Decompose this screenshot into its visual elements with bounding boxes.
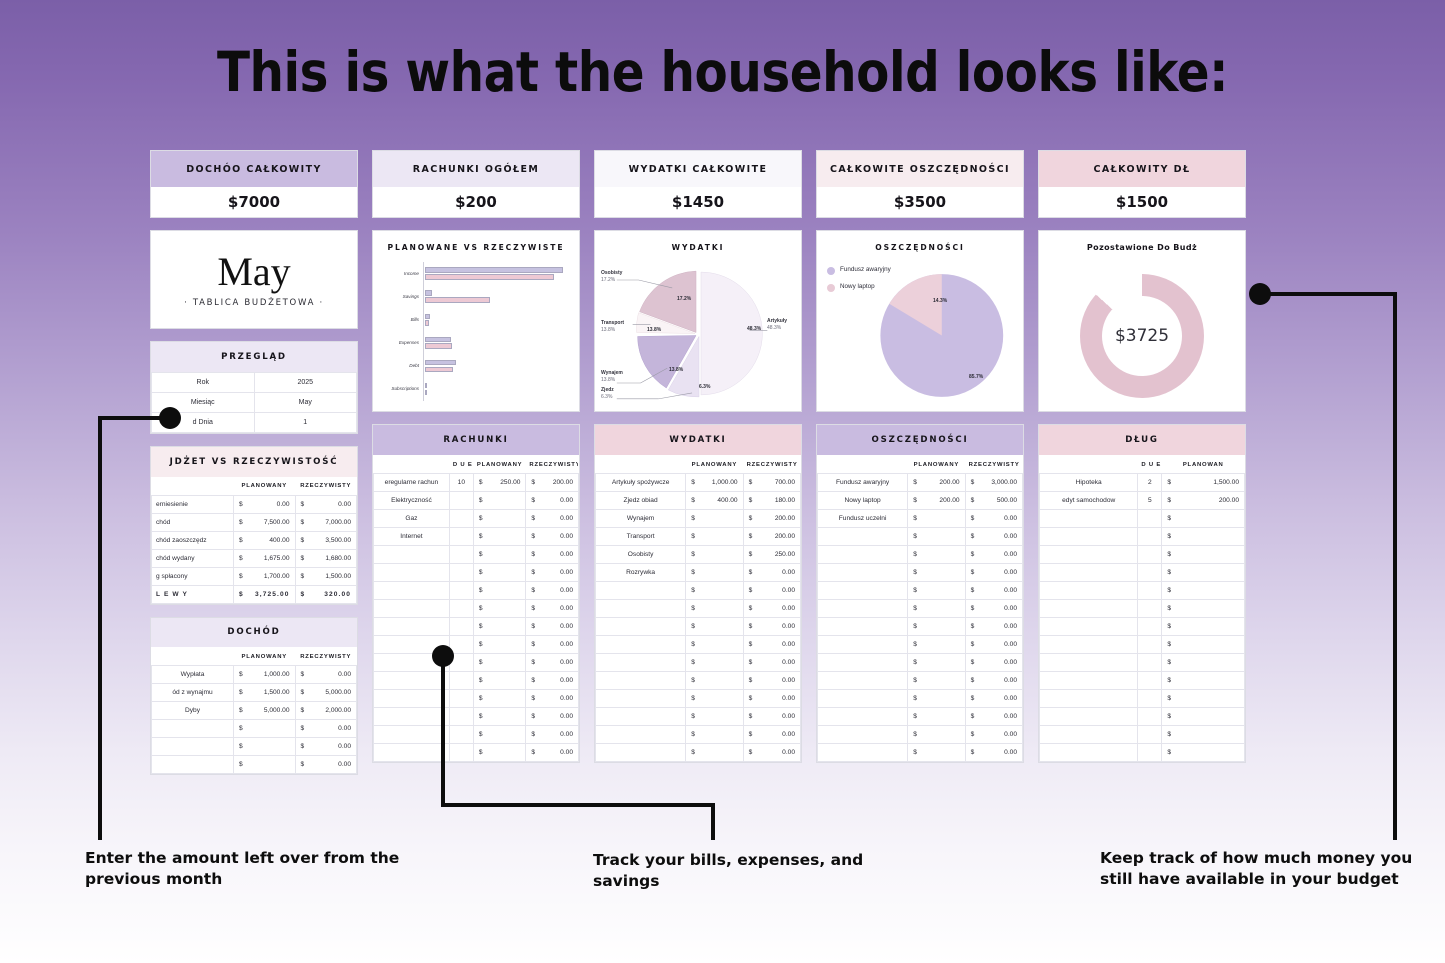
cell-planned[interactable]: $ [908,546,965,564]
cell-planned[interactable]: $ [908,618,965,636]
table-row[interactable]: $ $ 0.00 [374,636,579,654]
cell-planned[interactable]: $ [1162,690,1245,708]
row-label: Rozrywka [596,564,686,582]
cell-planned[interactable]: $ [908,510,965,528]
table-row[interactable]: $ $ 0.00 [818,636,1023,654]
cell-planned[interactable]: $ [1162,726,1245,744]
cell-planned[interactable]: $ [473,690,526,708]
cell-due[interactable] [1138,744,1162,762]
row-label: Elektryczność [374,492,450,510]
cell-actual[interactable]: $ 0.00 [295,756,357,774]
bar-category-label: Income [381,271,423,276]
cell-due[interactable] [1138,600,1162,618]
cell-planned[interactable]: $ [686,546,743,564]
cell-due[interactable] [1138,618,1162,636]
table-row[interactable]: $ $ 0.00 [152,738,357,756]
cell-actual[interactable]: $ 0.00 [526,654,579,672]
cell-planned[interactable]: $ [473,528,526,546]
cell-planned[interactable]: $ [686,654,743,672]
cell-actual[interactable]: $ 0.00 [965,690,1022,708]
donut-center: $3725 [1102,296,1182,376]
cell-actual[interactable]: $ 0.00 [526,708,579,726]
table-row[interactable]: $ $ 0.00 [818,528,1023,546]
overview-row-value[interactable]: 1 [254,413,357,433]
table-row[interactable]: $ $ 0.00 [152,720,357,738]
expenses-body: Artykuły spożywcze$ 1,000.00$ 700.00Zjed… [596,474,801,762]
cell-actual[interactable]: $ 0.00 [295,666,357,684]
table-row[interactable]: chód zaoszczędz $ 400.00 $ 3,500.00 [152,531,357,549]
cell-planned[interactable]: $ [473,492,526,510]
cell-planned[interactable]: $ [686,690,743,708]
cell-actual[interactable]: $ 0.00 [526,600,579,618]
table-row[interactable]: $ $ 0.00 [818,708,1023,726]
cell-planned[interactable]: $ 7,500.00 [234,513,296,531]
cell-actual[interactable]: $ 3,000.00 [965,474,1022,492]
table-row[interactable]: $ $ 0.00 [818,654,1023,672]
cell-due[interactable] [449,510,473,528]
cell-due[interactable] [449,492,473,510]
cell-planned[interactable]: $ [234,756,296,774]
cell-actual[interactable]: $ 0.00 [965,546,1022,564]
cell-due[interactable] [449,744,473,762]
cell-actual[interactable]: $ 1,680.00 [295,549,357,567]
cell-actual[interactable]: $ 200.00 [526,474,579,492]
row-label: Nowy laptop [818,492,908,510]
table-row[interactable]: Miesiąc May [152,393,357,413]
cell-actual[interactable]: $ 0.00 [743,726,800,744]
table-row[interactable]: $ $ 0.00 [374,672,579,690]
cell-planned[interactable]: $ [686,582,743,600]
table-row[interactable]: $ $ 0.00 [374,690,579,708]
column-header-planned: PLANOWANY [473,456,526,474]
cell-due[interactable] [449,564,473,582]
cell-planned[interactable]: $ [1162,636,1245,654]
row-label [1040,708,1138,726]
table-row[interactable]: $ $ 0.00 [596,690,801,708]
cell-planned-total[interactable]: $ 3,725.00 [234,585,296,603]
cell-planned[interactable]: $ 400.00 [686,492,743,510]
column-header-due: D U E [449,456,473,474]
table-row[interactable]: $ $ 0.00 [374,726,579,744]
cell-due[interactable] [449,690,473,708]
cell-actual[interactable]: $ 0.00 [743,582,800,600]
cell-planned[interactable]: $ [473,708,526,726]
budget-vs-actual-body: erniesienie $ 0.00 $ 0.00 chód $ 7,500.0… [152,495,357,603]
cell-actual[interactable]: $ 0.00 [965,564,1022,582]
cell-due[interactable]: 10 [449,474,473,492]
cell-actual[interactable]: $ 0.00 [965,528,1022,546]
cell-planned[interactable]: $ 5,000.00 [234,702,296,720]
cell-actual[interactable]: $ 0.00 [526,510,579,528]
row-label [374,744,450,762]
cell-actual[interactable]: $ 1,500.00 [295,567,357,585]
cell-actual[interactable]: $ 200.00 [743,510,800,528]
table-row[interactable]: $ [1040,582,1245,600]
table-row[interactable]: $ $ 0.00 [596,600,801,618]
table-row[interactable]: Fundusz awaryjny$ 200.00$ 3,000.00 [818,474,1023,492]
cell-actual[interactable]: $ 0.00 [743,744,800,762]
table-row[interactable]: Nowy laptop$ 200.00$ 500.00 [818,492,1023,510]
row-label [1040,672,1138,690]
kpi-label: RACHUNKI OGÓŁEM [373,151,579,187]
table-row[interactable]: $ $ 0.00 [374,744,579,762]
cell-planned[interactable]: $ [908,672,965,690]
bar-category-label: Savings [381,294,423,299]
cell-actual[interactable]: $ 0.00 [965,510,1022,528]
cell-actual[interactable]: $ 200.00 [743,528,800,546]
cell-actual[interactable]: $ 0.00 [295,738,357,756]
cell-actual[interactable]: $ 0.00 [965,600,1022,618]
table-row[interactable]: $ $ 0.00 [596,708,801,726]
cell-planned[interactable]: $ [908,708,965,726]
table-row[interactable]: erniesienie $ 0.00 $ 0.00 [152,495,357,513]
table-row[interactable]: $ [1040,510,1245,528]
table-row[interactable]: Zjedz obiad$ 400.00$ 180.00 [596,492,801,510]
cell-planned[interactable]: $ [473,546,526,564]
table-row[interactable]: Osobisty$ $ 250.00 [596,546,801,564]
cell-due[interactable] [449,528,473,546]
cell-planned[interactable]: $ 200.00 [908,474,965,492]
cell-planned[interactable]: $ [686,618,743,636]
dashboard-column-summary: DOCHÓO CAŁKOWITY $7000 May · TABLICA BUD… [150,150,358,775]
cell-actual[interactable]: $ 0.00 [526,546,579,564]
cell-actual[interactable]: $ 5,000.00 [295,684,357,702]
overview-row-label: Miesiąc [152,393,255,413]
cell-actual[interactable]: $ 0.00 [743,654,800,672]
cell-planned[interactable]: $ [1162,546,1245,564]
table-row[interactable]: $ [1040,726,1245,744]
cell-planned[interactable]: $ [686,726,743,744]
cell-due[interactable] [449,672,473,690]
bar-actual [425,390,427,395]
table-row[interactable]: $ [1040,564,1245,582]
table-row[interactable]: Gaz$ $ 0.00 [374,510,579,528]
cell-planned[interactable]: $ [908,528,965,546]
table-row[interactable]: Rozrywka$ $ 0.00 [596,564,801,582]
cell-planned[interactable]: $ [686,672,743,690]
table-row[interactable]: $ [1040,708,1245,726]
row-label [596,672,686,690]
income-table-card: DOCHÓD PLANOWANY RZECZYWISTY Wypłata $ 1… [150,617,358,775]
cell-planned[interactable]: $ [686,636,743,654]
cell-actual[interactable]: $ 0.00 [526,726,579,744]
cell-planned[interactable]: $ [473,726,526,744]
page-title: This is what the household looks like: [87,40,1359,104]
table-row[interactable]: Elektryczność$ $ 0.00 [374,492,579,510]
table-row[interactable]: d Dnia 1 [152,413,357,433]
cell-actual[interactable]: $ 0.00 [295,495,357,513]
row-label [374,726,450,744]
cell-planned[interactable]: $ [1162,654,1245,672]
row-label: chód [152,513,234,531]
table-row[interactable]: edyt samochodow5$ 200.00 [1040,492,1245,510]
row-label [1040,528,1138,546]
cell-actual[interactable]: $ 0.00 [526,492,579,510]
row-label [818,726,908,744]
cell-planned[interactable]: $ [473,600,526,618]
table-row[interactable]: $ $ 0.00 [374,564,579,582]
cell-due[interactable] [449,600,473,618]
cell-planned[interactable]: $ [686,600,743,618]
cell-planned[interactable]: $ [234,720,296,738]
column-header-actual: RZECZYWISTY [295,648,357,666]
cell-planned[interactable]: $ [686,564,743,582]
cell-actual[interactable]: $ 0.00 [526,744,579,762]
cell-planned[interactable]: $ [1162,708,1245,726]
cell-planned[interactable]: $ [473,618,526,636]
cell-planned[interactable]: $ 1,500.00 [234,684,296,702]
table-row[interactable]: $ [1040,654,1245,672]
cell-actual[interactable]: $ 0.00 [526,528,579,546]
cell-actual[interactable]: $ 0.00 [743,708,800,726]
table-row[interactable]: $ $ 0.00 [818,618,1023,636]
row-label [818,582,908,600]
cell-due[interactable]: 2 [1138,474,1162,492]
cell-due[interactable] [1138,708,1162,726]
cell-due[interactable] [1138,726,1162,744]
cell-planned[interactable]: $ 1,000.00 [234,666,296,684]
cell-planned[interactable]: $ 1,500.00 [1162,474,1245,492]
table-row[interactable]: Rok 2025 [152,373,357,393]
table-row[interactable]: Artykuły spożywcze$ 1,000.00$ 700.00 [596,474,801,492]
cell-planned[interactable]: $ 200.00 [908,492,965,510]
cell-planned[interactable]: $ 250.00 [473,474,526,492]
cell-planned[interactable]: $ [473,672,526,690]
table-row[interactable]: $ $ 0.00 [818,546,1023,564]
table-row[interactable]: $ $ 0.00 [374,582,579,600]
row-label [374,690,450,708]
table-row[interactable]: $ $ 0.00 [374,546,579,564]
cell-planned[interactable]: $ [686,708,743,726]
cell-planned[interactable]: $ 400.00 [234,531,296,549]
cell-actual[interactable]: $ 0.00 [743,636,800,654]
cell-due[interactable] [1138,654,1162,672]
cell-planned[interactable]: $ [908,564,965,582]
cell-planned[interactable]: $ [1162,618,1245,636]
cell-actual[interactable]: $ 0.00 [295,720,357,738]
cell-planned[interactable]: $ [908,744,965,762]
cell-due[interactable] [1138,672,1162,690]
cell-actual[interactable]: $ 500.00 [965,492,1022,510]
cell-actual[interactable]: $ 0.00 [526,672,579,690]
cell-due[interactable] [1138,690,1162,708]
cell-planned[interactable]: $ 1,700.00 [234,567,296,585]
donut-chart: $3725 [1039,254,1245,411]
cell-planned[interactable]: $ 1,675.00 [234,549,296,567]
cell-actual[interactable]: $ 2,000.00 [295,702,357,720]
table-row[interactable]: $ [1040,618,1245,636]
cell-due[interactable] [1138,510,1162,528]
cell-actual[interactable]: $ 7,000.00 [295,513,357,531]
table-row[interactable]: $ [1040,546,1245,564]
table-row[interactable]: $ [1040,744,1245,762]
row-label: Fundusz uczelni [818,510,908,528]
pie-value-fundusz-awaryjny: 85.7% [969,374,983,380]
table-row[interactable]: chód wydany $ 1,675.00 $ 1,680.00 [152,549,357,567]
table-row[interactable]: $ $ 0.00 [818,600,1023,618]
cell-planned[interactable]: $ [908,600,965,618]
cell-planned[interactable]: $ [1162,600,1245,618]
table-row[interactable]: $ $ 0.00 [818,744,1023,762]
cell-actual[interactable]: $ 0.00 [965,672,1022,690]
cell-due[interactable] [1138,546,1162,564]
table-row[interactable]: $ $ 0.00 [596,582,801,600]
cell-actual[interactable]: $ 0.00 [743,690,800,708]
table-row-total[interactable]: L E W Y $ 3,725.00 $ 320.00 [152,585,357,603]
cell-planned[interactable]: $ [1162,744,1245,762]
pie-callout-zjedz: Zjedz 6.3% [601,387,614,400]
overview-row-value[interactable]: May [254,393,357,413]
table-row[interactable]: g spłacony $ 1,700.00 $ 1,500.00 [152,567,357,585]
cell-actual[interactable]: $ 0.00 [526,636,579,654]
cell-planned[interactable]: $ [473,510,526,528]
cell-planned[interactable]: $ [686,528,743,546]
row-label [596,708,686,726]
table-row[interactable]: $ $ 0.00 [596,672,801,690]
overview-row-value[interactable]: 2025 [254,373,357,393]
table-row[interactable]: $ $ 0.00 [374,708,579,726]
cell-planned[interactable]: $ [473,582,526,600]
table-row[interactable]: $ $ 0.00 [374,618,579,636]
cell-due[interactable] [449,546,473,564]
cell-planned[interactable]: $ [473,654,526,672]
cell-actual[interactable]: $ 700.00 [743,474,800,492]
table-row[interactable]: $ $ 0.00 [818,726,1023,744]
cell-planned[interactable]: $ [1162,510,1245,528]
column-header-planned: PLANOWAN [1162,456,1245,474]
cell-actual[interactable]: $ 0.00 [743,618,800,636]
cell-actual[interactable]: $ 0.00 [526,564,579,582]
cell-planned[interactable]: $ [908,654,965,672]
cell-planned[interactable]: $ [1162,528,1245,546]
table-row[interactable]: Fundusz uczelni$ $ 0.00 [818,510,1023,528]
budget-vs-actual-table: PLANOWANY RZECZYWISTY erniesienie $ 0.00… [151,477,357,604]
cell-due[interactable] [1138,528,1162,546]
table-row[interactable]: $ [1040,600,1245,618]
cell-planned[interactable]: $ [473,564,526,582]
table-row[interactable]: $ $ 0.00 [818,564,1023,582]
cell-actual[interactable]: $ 0.00 [965,582,1022,600]
debt-title: DŁUG [1039,425,1245,455]
table-row[interactable]: $ $ 0.00 [596,726,801,744]
cell-planned[interactable]: $ 0.00 [234,495,296,513]
cell-due[interactable] [1138,582,1162,600]
kpi-card-total-savings: CAŁKOWITE OSZCZĘDNOŚCI $3500 [816,150,1024,218]
cell-actual[interactable]: $ 0.00 [743,564,800,582]
table-row[interactable]: ód z wynajmu $ 1,500.00 $ 5,000.00 [152,684,357,702]
cell-planned[interactable]: $ [686,510,743,528]
cell-actual[interactable]: $ 250.00 [743,546,800,564]
cell-planned[interactable]: $ [1162,564,1245,582]
cell-actual[interactable]: $ 3,500.00 [295,531,357,549]
table-row[interactable]: Dyby $ 5,000.00 $ 2,000.00 [152,702,357,720]
table-row[interactable]: $ $ 0.00 [818,672,1023,690]
table-row[interactable]: $ $ 0.00 [152,756,357,774]
cell-actual[interactable]: $ 0.00 [965,654,1022,672]
cell-planned[interactable]: $ [908,690,965,708]
cell-planned[interactable]: $ [908,636,965,654]
cell-due[interactable] [449,582,473,600]
table-row[interactable]: Internet$ $ 0.00 [374,528,579,546]
cell-actual[interactable]: $ 180.00 [743,492,800,510]
cell-planned[interactable]: $ 1,000.00 [686,474,743,492]
cell-actual[interactable]: $ 0.00 [526,690,579,708]
bar-planned [425,314,430,319]
cell-actual[interactable]: $ 0.00 [743,672,800,690]
table-row[interactable]: $ [1040,528,1245,546]
table-row[interactable]: $ $ 0.00 [596,744,801,762]
table-row[interactable]: $ [1040,636,1245,654]
cell-planned[interactable]: $ [473,636,526,654]
table-row[interactable]: chód $ 7,500.00 $ 7,000.00 [152,513,357,531]
pie-value-artykuly: 48.3% [747,326,761,332]
cell-actual[interactable]: $ 0.00 [965,744,1022,762]
cell-due[interactable] [449,636,473,654]
cell-actual[interactable]: $ 0.00 [965,726,1022,744]
cell-due[interactable] [1138,564,1162,582]
cell-planned[interactable]: $ [1162,672,1245,690]
cell-planned[interactable]: $ [473,744,526,762]
cell-actual[interactable]: $ 0.00 [965,708,1022,726]
cell-due[interactable] [1138,636,1162,654]
table-row[interactable]: $ [1040,690,1245,708]
table-row[interactable]: $ $ 0.00 [818,582,1023,600]
pie-value-wynajem: 13.8% [669,367,683,373]
row-label: g spłacony [152,567,234,585]
table-row[interactable]: $ $ 0.00 [596,618,801,636]
table-row[interactable]: $ $ 0.00 [596,654,801,672]
chart-title: WYDATKI [595,231,801,254]
table-row[interactable]: $ $ 0.00 [818,690,1023,708]
table-row[interactable]: Transport$ $ 200.00 [596,528,801,546]
cell-actual[interactable]: $ 0.00 [526,618,579,636]
overview-row-label: Rok [152,373,255,393]
table-row[interactable]: Wypłata $ 1,000.00 $ 0.00 [152,666,357,684]
row-label [374,672,450,690]
cell-due[interactable] [449,618,473,636]
cell-actual[interactable]: $ 0.00 [965,618,1022,636]
cell-due[interactable]: 5 [1138,492,1162,510]
cell-actual-total[interactable]: $ 320.00 [295,585,357,603]
bar-actual [425,343,452,348]
cell-due[interactable] [449,726,473,744]
cell-actual[interactable]: $ 0.00 [526,582,579,600]
cell-planned[interactable]: $ [234,738,296,756]
table-row[interactable]: Hipoteka2$ 1,500.00 [1040,474,1245,492]
table-row[interactable]: $ [1040,672,1245,690]
cell-actual[interactable]: $ 0.00 [965,636,1022,654]
table-row[interactable]: eregularne rachun10$ 250.00$ 200.00 [374,474,579,492]
table-row[interactable]: Wynajem$ $ 200.00 [596,510,801,528]
cell-actual[interactable]: $ 0.00 [743,600,800,618]
income-title: DOCHÓD [151,618,357,647]
table-header-row: D U E PLANOWANY RZECZYWISTY [374,456,579,474]
cell-due[interactable] [449,708,473,726]
savings-table-card: OSZCZĘDNOŚCI PLANOWANY RZECZYWISTY Fundu… [816,424,1024,763]
row-label: Internet [374,528,450,546]
row-label: eregularne rachun [374,474,450,492]
table-row[interactable]: $ $ 0.00 [374,654,579,672]
cell-planned[interactable]: $ 200.00 [1162,492,1245,510]
pie-value-transport: 13.8% [647,327,661,333]
cell-planned[interactable]: $ [1162,582,1245,600]
cell-planned[interactable]: $ [686,744,743,762]
cell-planned[interactable]: $ [908,726,965,744]
table-row[interactable]: $ $ 0.00 [596,636,801,654]
table-row[interactable]: $ $ 0.00 [374,600,579,618]
cell-planned[interactable]: $ [908,582,965,600]
cell-due[interactable] [449,654,473,672]
